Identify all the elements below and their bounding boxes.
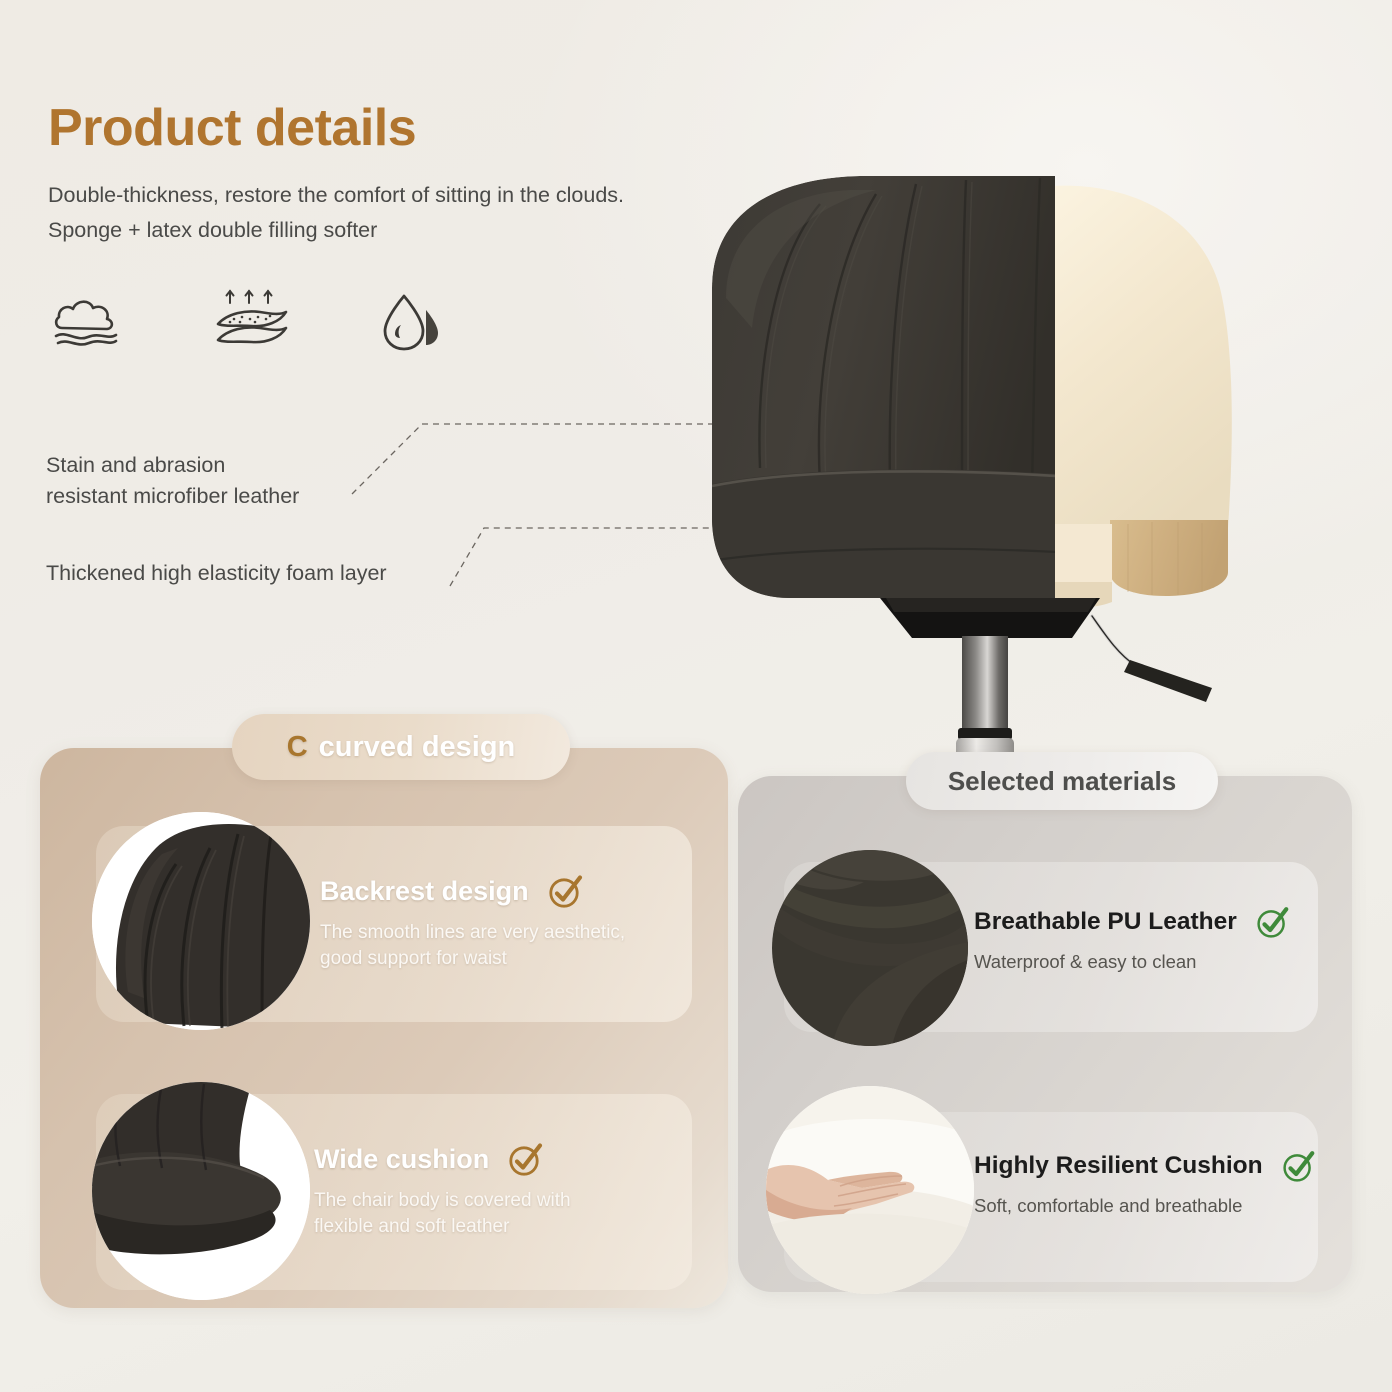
waterproof-droplet-icon <box>370 288 452 358</box>
office-chair-cutaway-image <box>700 168 1300 768</box>
feature-description: The smooth lines are very aesthetic, goo… <box>320 920 625 972</box>
feature-title-row: Breathable PU Leather <box>974 904 1291 940</box>
cushion-closeup-photo <box>92 1082 310 1300</box>
check-circle-icon <box>507 1140 545 1178</box>
feature-icon-row <box>50 288 452 358</box>
section-title-c-curved-design: C curved design <box>232 714 570 780</box>
feature-title: Breathable PU Leather <box>974 908 1237 936</box>
feature-text-pu-leather: Breathable PU Leather Waterproof & easy … <box>974 904 1291 974</box>
pu-leather-texture-photo <box>772 850 968 1046</box>
feature-text-backrest-design: Backrest design The smooth lines are ver… <box>320 872 625 972</box>
breathable-layers-icon <box>210 288 292 358</box>
product-details-infographic: Product details Double-thickness, restor… <box>0 0 1392 1392</box>
page-title: Product details <box>48 98 416 158</box>
feature-text-resilient-cushion: Highly Resilient Cushion Soft, comfortab… <box>974 1148 1317 1218</box>
green-check-circle-icon <box>1281 1148 1317 1184</box>
cloud-softness-icon <box>50 288 132 358</box>
feature-title-row: Wide cushion <box>314 1140 571 1178</box>
feature-title-row: Highly Resilient Cushion <box>974 1148 1317 1184</box>
backrest-closeup-photo <box>92 812 310 1030</box>
feature-title: Backrest design <box>320 876 529 907</box>
section-title-selected-materials: Selected materials <box>906 752 1218 810</box>
feature-description: The chair body is covered with flexible … <box>314 1188 571 1240</box>
header-subcopy: Double-thickness, restore the comfort of… <box>48 178 624 248</box>
feature-description: Soft, comfortable and breathable <box>974 1193 1317 1218</box>
section-title-label: curved design <box>319 731 516 764</box>
feature-description: Waterproof & easy to clean <box>974 949 1291 974</box>
check-circle-icon <box>547 872 585 910</box>
feature-title-row: Backrest design <box>320 872 625 910</box>
section-title-label: Selected materials <box>948 766 1176 797</box>
feature-title: Wide cushion <box>314 1144 489 1175</box>
feature-title: Highly Resilient Cushion <box>974 1152 1263 1180</box>
callout-label-leather: Stain and abrasion resistant microfiber … <box>46 450 299 512</box>
accent-letter-c: C <box>287 731 308 764</box>
callout-label-foam: Thickened high elasticity foam layer <box>46 558 387 589</box>
green-check-circle-icon <box>1255 904 1291 940</box>
feature-text-wide-cushion: Wide cushion The chair body is covered w… <box>314 1140 571 1240</box>
foam-hand-press-photo <box>766 1086 974 1294</box>
